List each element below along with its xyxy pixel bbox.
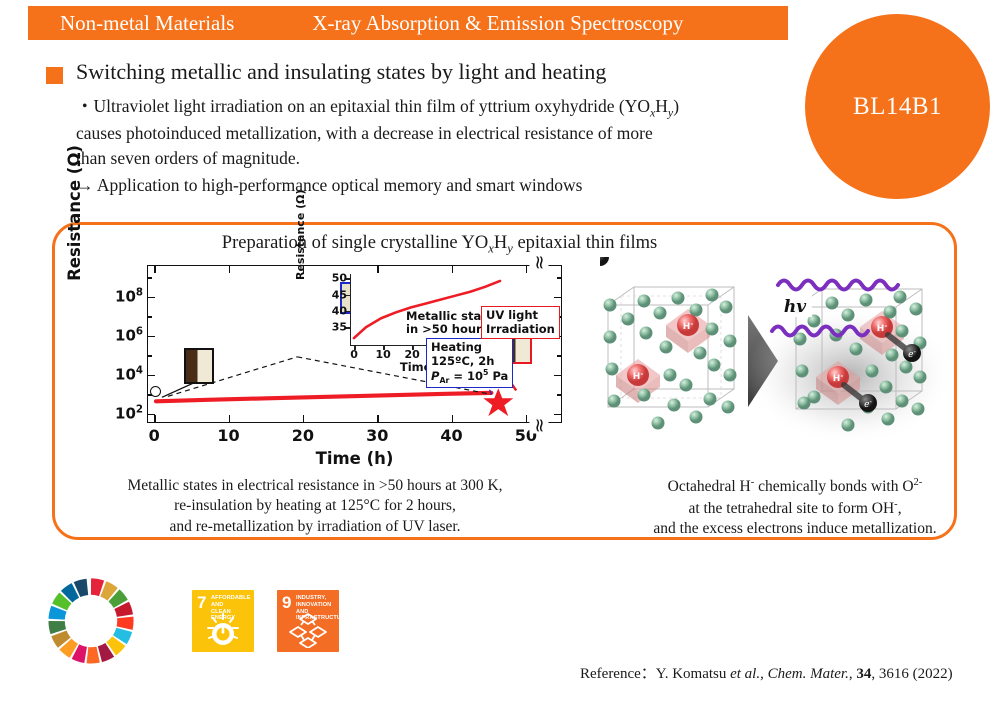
resistance-time-chart: Resistance (Ω) 108 106 104 102 <box>71 261 591 466</box>
x-tick-label-40: 40 <box>440 426 462 445</box>
cubes-icon <box>288 612 328 648</box>
heating-line-1: Heating <box>431 341 508 355</box>
inset-y-label-45: 45 <box>332 288 347 301</box>
body-line1-c: ) <box>673 96 679 116</box>
cap-r1b: chemically bonds with O <box>754 478 913 495</box>
caption-right-line-2: at the tetrahedral site to form OH-, <box>600 498 990 520</box>
inset-y-axis-title: Resistance (Ω) <box>294 204 307 280</box>
chart-y-axis-title: Resistance (Ω) <box>65 143 84 283</box>
sdg-goal-9-line1: INDUSTRY, INNOVATION <box>296 595 336 609</box>
beamline-badge-label: BL14B1 <box>853 93 942 121</box>
caption-left: Metallic states in electrical resistance… <box>60 476 570 537</box>
cap-r2b: , <box>898 500 902 517</box>
caption-right: Octahedral H- chemically bonds with O2- … <box>600 476 990 540</box>
y-tick-label-8: 108 <box>115 287 143 305</box>
panel-title: Preparation of single crystalline YOxHy … <box>55 233 954 257</box>
crystal-structures-svg: H- H- <box>600 257 950 467</box>
headline-row: Switching metallic and insulating states… <box>46 60 606 84</box>
sdg-colour-wheel-icon <box>48 578 134 664</box>
headline-text: Switching metallic and insulating states… <box>76 60 606 84</box>
crystal-structure-figure: H- H- <box>600 257 950 467</box>
inset-y-label-40: 40 <box>332 304 347 317</box>
header-left-title: Non-metal Materials <box>60 11 234 36</box>
orange-square-bullet-icon <box>46 67 63 84</box>
reference-label: Reference： <box>580 666 656 682</box>
body-line-4: → Application to high-performance optica… <box>76 173 766 198</box>
y-tick-label-4: 104 <box>115 365 143 383</box>
inset-y-label-50: 50 <box>332 272 347 285</box>
x-tick-label-30: 30 <box>366 426 388 445</box>
reference-sep: , <box>760 666 768 682</box>
body-line-2: causes photoinduced metallization, with … <box>76 121 766 146</box>
chart-x-axis-title: Time (h) <box>147 449 562 468</box>
x-tick-label-10: 10 <box>217 426 239 445</box>
beamline-badge: BL14B1 <box>805 14 990 199</box>
header-right-title: X-ray Absorption & Emission Spectroscopy <box>312 11 683 36</box>
x-tick-label-20: 20 <box>292 426 314 445</box>
body-line-3: than seven orders of magnitude. <box>76 146 766 171</box>
sdg-goal-9-number: 9 <box>282 594 291 611</box>
uv-line-1: UV light <box>486 309 555 323</box>
cap-r1a: Octahedral H <box>668 478 751 495</box>
sdg-goal-9-card: 9 INDUSTRY, INNOVATION AND INFRASTRUCTUR… <box>277 590 339 652</box>
panel-title-c: epitaxial thin films <box>513 233 657 253</box>
caption-right-line-3: and the excess electrons induce metalliz… <box>600 519 990 539</box>
reference-etal: et al. <box>730 666 760 682</box>
body-line-1: ・Ultraviolet light irradiation on an epi… <box>76 94 766 121</box>
reference-volume: 34 <box>856 666 871 682</box>
cap-r2a: at the tetrahedral site to form OH <box>688 500 894 517</box>
reference-authors: Y. Komatsu <box>656 666 730 682</box>
y-tick-label-2: 102 <box>115 404 143 422</box>
body-bullet-glyph: ・ <box>76 96 94 116</box>
heating-eq: = 10 <box>449 369 483 383</box>
body-line1-a: Ultraviolet light irradiation on an epit… <box>94 96 650 116</box>
uv-light-annotation-box: UV light Irradiation <box>481 306 560 339</box>
heating-p-subscript: Ar <box>439 376 449 385</box>
sample-photo-brown-metallic <box>184 348 214 384</box>
inset-y-label-35: 35 <box>332 321 347 334</box>
cap-r1sup2: 2- <box>914 477 923 488</box>
reference-line: Reference：Y. Komatsu et al., Chem. Mater… <box>580 662 953 683</box>
caption-left-line-3: and re-metallization by irradiation of U… <box>60 517 570 537</box>
heating-line-2: 125ºC, 2h <box>431 355 508 369</box>
body-line1-b: H <box>655 96 668 116</box>
heating-unit: Pa <box>488 369 508 383</box>
x-tick-label-0: 0 <box>149 426 160 445</box>
panel-title-b: H <box>494 233 507 253</box>
sdg-goal-7-line1: AFFORDABLE AND <box>211 595 251 609</box>
sdg-goal-7-number: 7 <box>197 594 206 611</box>
axis-break-top-icon: ≈ <box>529 255 548 271</box>
caption-left-line-1: Metallic states in electrical resistance… <box>60 476 570 496</box>
caption-right-line-1: Octahedral H- chemically bonds with O2- <box>600 476 990 498</box>
uv-line-2: Irradiation <box>486 323 555 337</box>
panel-title-a: Preparation of single crystalline YO <box>222 233 488 253</box>
reference-pages: , 3616 (2022) <box>871 666 952 682</box>
body-text: ・Ultraviolet light irradiation on an epi… <box>76 94 766 198</box>
sdg-goal-7-card: 7 AFFORDABLE AND CLEAN ENERGY <box>192 590 254 652</box>
heating-annotation-box: Heating 125ºC, 2h PAr = 105 Pa <box>426 338 513 388</box>
caption-left-line-2: re-insulation by heating at 125°C for 2 … <box>60 496 570 516</box>
header-bar: Non-metal Materials X-ray Absorption & E… <box>28 6 788 40</box>
hv-label: hv <box>784 297 807 317</box>
yoxhy-unit-cell-insulating: H- H- <box>604 287 737 430</box>
chart-plot-area: 108 106 104 102 0 10 <box>147 265 562 423</box>
y-tick-label-6: 106 <box>115 326 143 344</box>
heating-line-3: PAr = 105 Pa <box>431 368 508 385</box>
reference-journal: Chem. Mater. <box>768 666 849 682</box>
sun-power-icon <box>205 612 241 648</box>
axis-break-bottom-icon: ≈ <box>529 418 548 434</box>
open-circle-start-marker <box>150 386 161 397</box>
